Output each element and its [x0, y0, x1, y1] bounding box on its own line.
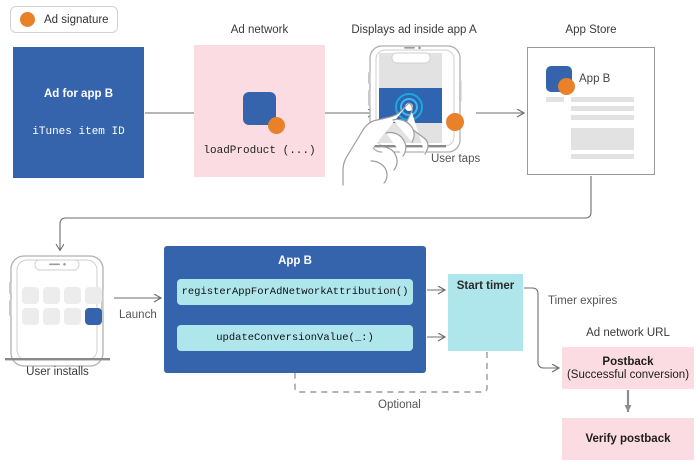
placeholder-bar — [571, 115, 634, 120]
phone-install-illustration — [5, 256, 110, 366]
placeholder-bar — [546, 97, 564, 102]
caption-ad-network-url: Ad network URL — [562, 327, 694, 339]
app-b-title: App B — [164, 255, 426, 267]
api-register-app-for-ad-network-attribution[interactable]: registerAppForAdNetworkAttribution() — [177, 279, 413, 305]
launch-label: Launch — [119, 309, 157, 321]
caption-displays-ad: Displays ad inside app A — [350, 24, 478, 36]
ad-for-app-b-box: Ad for app B iTunes item ID — [13, 47, 144, 178]
postback-subtitle: (Successful conversion) — [567, 369, 689, 381]
start-timer-title: Start timer — [448, 280, 523, 292]
app-b-box: App B registerAppForAdNetworkAttribution… — [164, 246, 426, 373]
caption-ad-network: Ad network — [194, 24, 325, 36]
orange-dot-icon — [268, 117, 285, 134]
legend-label: Ad signature — [44, 14, 109, 26]
legend-badge: Ad signature — [10, 6, 118, 33]
postback-box: Postback (Successful conversion) — [562, 347, 694, 389]
placeholder-block — [571, 128, 634, 150]
verify-postback-title: Verify postback — [585, 433, 670, 445]
optional-label: Optional — [378, 399, 421, 411]
user-taps-label: User taps — [431, 153, 480, 165]
connector-store-to-install — [60, 176, 591, 250]
caption-app-store: App Store — [527, 24, 655, 36]
orange-dot-icon — [20, 12, 35, 27]
caption-user-installs: User installs — [5, 366, 110, 378]
ad-box-title: Ad for app B — [44, 88, 113, 100]
placeholder-bar — [571, 106, 634, 111]
orange-dot-icon — [558, 78, 575, 95]
placeholder-bar — [571, 154, 634, 159]
verify-postback-box: Verify postback — [562, 418, 694, 460]
load-product-label: loadProduct (...) — [194, 145, 325, 157]
ad-network-box: loadProduct (...) — [194, 45, 325, 177]
ad-box-subtitle: iTunes item ID — [32, 126, 124, 138]
app-store-card: App B — [527, 47, 655, 175]
api-update-conversion-value[interactable]: updateConversionValue(_:) — [177, 325, 413, 351]
app-store-app-name: App B — [579, 73, 610, 85]
placeholder-bar — [571, 97, 634, 102]
timer-expires-label: Timer expires — [548, 295, 617, 307]
diagram-canvas: Ad signature Ad network Displays ad insi… — [0, 0, 700, 462]
postback-title: Postback — [602, 356, 653, 368]
start-timer-box: Start timer — [448, 274, 523, 351]
